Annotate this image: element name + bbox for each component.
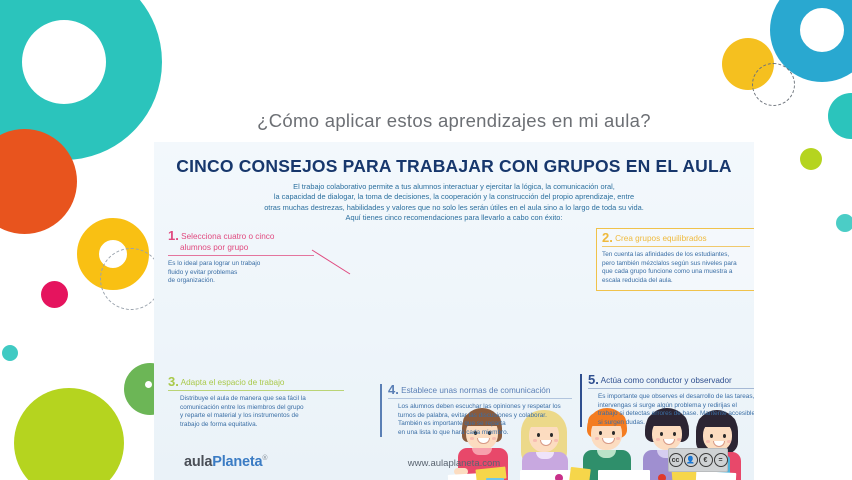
tip-1-number: 1.	[168, 228, 179, 243]
student-4-eye-left	[660, 432, 663, 436]
tip-5-heading-line-1: Actúa como conductor y observador	[601, 376, 732, 385]
tip-3-body-line: Distribuye el aula de manera que sea fác…	[180, 395, 358, 404]
student-2-cheek-right	[554, 439, 558, 442]
student-3-eye-left	[599, 431, 602, 435]
student-4-cheek-left	[656, 438, 660, 441]
student-3-cheek-right	[616, 437, 620, 440]
tip-2-number: 2.	[602, 230, 613, 245]
intro-line: la capacidad de dialogar, la toma de dec…	[214, 192, 694, 202]
cc-mark-nc: €	[699, 453, 713, 467]
tip-1-body-line: Es lo ideal para lograr un trabajo	[168, 260, 314, 269]
pink-circle-decoration	[41, 281, 68, 308]
tip-4-body-line: en una lista lo que hará cada miembro.	[398, 429, 584, 438]
tip-2-heading-line-1: Crea grupos equilibrados	[615, 234, 706, 243]
tip-1-body: Es lo ideal para lograr un trabajo fluid…	[168, 260, 314, 286]
tip-4-body-line: Los alumnos deben escuchar las opiniones…	[398, 403, 584, 412]
paper-sheet-2	[520, 470, 574, 480]
tip-2-rule	[602, 246, 750, 247]
student-2-cheek-left	[533, 439, 537, 442]
tip-2-body-line: escala reducida del aula.	[602, 277, 750, 286]
student-4-cheek-right	[677, 438, 681, 441]
tip-3-heading: 3. Adapta el espacio de trabajo	[168, 376, 358, 388]
student-5-cheek-left	[706, 440, 710, 443]
tip-3-body: Distribuye el aula de manera que sea fác…	[180, 395, 358, 429]
slide-canvas: ¿Cómo aplicar estos aprendizajes en mi a…	[0, 0, 852, 480]
tip-5-rule	[588, 388, 754, 389]
student-5-eye-left	[710, 434, 713, 438]
cc-by-nc-nd-icon: cc 👤 € =	[668, 448, 728, 472]
tip-1-body-line: de organización.	[168, 277, 314, 286]
slide-question: ¿Cómo aplicar estos aprendizajes en mi a…	[154, 110, 754, 132]
lime-circle-decoration	[14, 388, 124, 480]
cc-mark-cc: cc	[669, 453, 683, 467]
tip-3-rule	[168, 390, 344, 391]
tip-4-number: 4.	[388, 382, 399, 397]
tip-5-body: Es importante que observes el desarrollo…	[598, 393, 754, 427]
dashed-circle-decoration-right	[752, 63, 795, 106]
cc-glyph-nc: €	[699, 453, 713, 467]
teal-dot-decoration-right	[836, 214, 852, 232]
teal-circle-decoration-right	[828, 93, 852, 139]
tip-2-heading: 2. Crea grupos equilibrados	[602, 232, 750, 244]
tip-4-body-line: turnos de palabra, evitar las discusione…	[398, 412, 584, 421]
tip-4-heading-line-1: Establece unas normas de comunicación	[401, 386, 550, 395]
student-3-cheek-left	[595, 437, 599, 440]
tip-2: 2. Crea grupos equilibrados Ten cuenta l…	[596, 228, 754, 291]
infographic-card: CINCO CONSEJOS PARA TRABAJAR CON GRUPOS …	[154, 142, 754, 480]
paper-sheet-4	[696, 471, 737, 480]
tip-5-body-line: trabajo si detectas errores de base. Man…	[598, 410, 754, 419]
tip-2-body-line: pero también mézclalos según sus niveles…	[602, 260, 750, 269]
student-5-cheek-right	[727, 440, 731, 443]
student-3-eye-right	[612, 431, 615, 435]
student-1-cheek-right	[492, 437, 496, 440]
tip-1-heading-line-1: Selecciona cuatro o cinco	[181, 232, 274, 241]
tip-1-body-line: fluido y evitar problemas	[168, 269, 314, 278]
tip-4-rule	[388, 398, 572, 399]
tip-1-heading-line-2: alumnos por grupo	[180, 242, 248, 253]
lime-dot-decoration-right	[800, 148, 822, 170]
website-url[interactable]: www.aulaplaneta.com	[154, 458, 754, 469]
tip-4: 4. Establece unas normas de comunicación…	[380, 384, 584, 437]
tip-4-body: Los alumnos deben escuchar las opiniones…	[398, 403, 584, 437]
drawing-dot-red	[658, 474, 666, 480]
teal-dot-decoration	[2, 345, 18, 361]
tip-2-body: Ten cuenta las afinidades de los estudia…	[602, 251, 750, 285]
intro-line: El trabajo colaborativo permite a tus al…	[214, 182, 694, 192]
paper-sheet-3	[598, 470, 650, 480]
card-intro-paragraph: El trabajo colaborativo permite a tus al…	[214, 182, 694, 224]
cc-glyph-nd: =	[714, 453, 728, 467]
tip-2-body-line: Ten cuenta las afinidades de los estudia…	[602, 251, 750, 260]
tip-5-body-line: si surgen dudas.	[598, 419, 754, 428]
tip-3-number: 3.	[168, 374, 179, 389]
tip-4-heading: 4. Establece unas normas de comunicación	[388, 384, 584, 396]
student-5-eye-right	[723, 434, 726, 438]
tip-3-body-line: trabajo de forma equitativa.	[180, 421, 358, 430]
tip-5: 5. Actúa como conductor y observador Es …	[580, 374, 754, 427]
dashed-circle-decoration-left	[100, 248, 162, 310]
intro-line: Aquí tienes cinco recomendaciones para l…	[214, 213, 694, 223]
tip-3-body-line: y reparte el material y los instrumentos…	[180, 412, 358, 421]
cc-mark-by: 👤	[684, 453, 698, 467]
tip-5-heading: 5. Actúa como conductor y observador	[588, 374, 754, 386]
tip-1: 1. Selecciona cuatro o cinco alumnos por…	[168, 230, 314, 286]
cc-glyph-by: 👤	[684, 453, 698, 467]
student-4-eye-right	[673, 432, 676, 436]
tip-5-number: 5.	[588, 372, 599, 387]
tip-3-heading-line-1: Adapta el espacio de trabajo	[181, 378, 285, 387]
tip-2-body-line: que cada grupo funcione como una muestra…	[602, 268, 750, 277]
tip-4-body-line: También es importante que se reparta	[398, 420, 584, 429]
cc-glyph-cc: cc	[669, 453, 683, 467]
tip-1-rule	[168, 255, 314, 256]
cc-mark-nd: =	[714, 453, 728, 467]
drawing-dot-magenta	[555, 474, 563, 480]
card-title: CINCO CONSEJOS PARA TRABAJAR CON GRUPOS …	[154, 156, 754, 177]
tip-1-heading: 1. Selecciona cuatro o cinco alumnos por…	[168, 230, 314, 253]
intro-line: otras muchas destrezas, habilidades y va…	[214, 203, 694, 213]
student-1-cheek-left	[470, 437, 474, 440]
green-circle-highlight	[145, 381, 152, 388]
tip-5-body-line: Es importante que observes el desarrollo…	[598, 393, 754, 402]
tip-3: 3. Adapta el espacio de trabajo Distribu…	[168, 376, 358, 429]
tip-5-body-line: intervengas si surge algún problema y re…	[598, 402, 754, 411]
tip-3-body-line: comunicación entre los miembros del grup…	[180, 404, 358, 413]
